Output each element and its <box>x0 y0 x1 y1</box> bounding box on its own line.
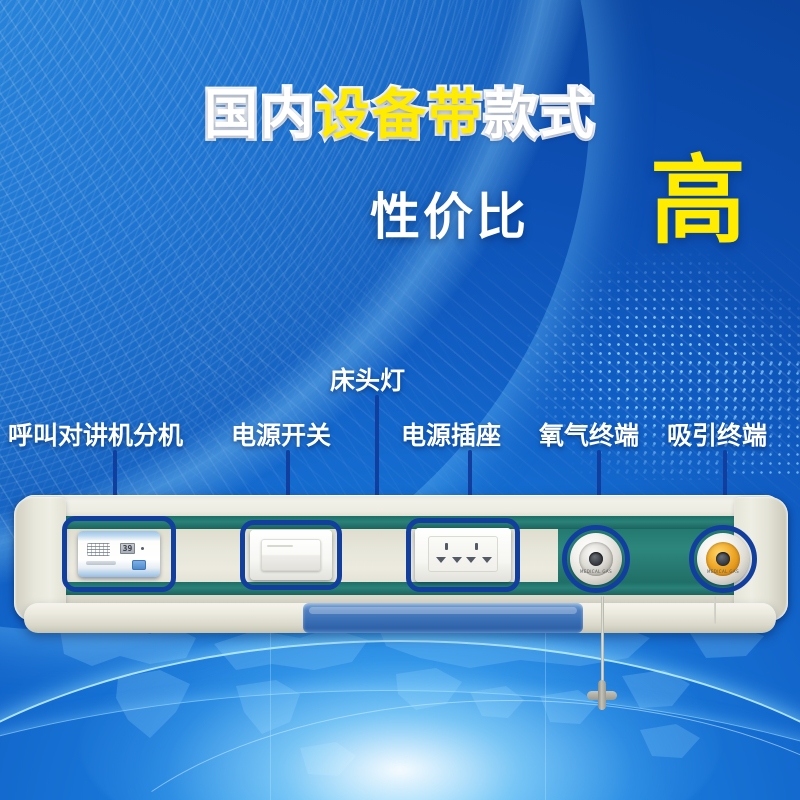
highlight-circle-oxygen <box>562 525 630 593</box>
bed-lamp-fixture <box>303 603 583 633</box>
callout-label-suction-terminal: 吸引终端 <box>667 416 767 452</box>
highlight-box-power-switch <box>240 520 342 590</box>
highlight-box-power-socket <box>406 518 520 592</box>
callout-label-intercom: 呼叫对讲机分机 <box>8 416 183 452</box>
headline-part-3: 款式 <box>484 83 596 146</box>
highlight-circle-suction <box>689 525 757 593</box>
headline-line-2: 性价比 高 <box>0 163 800 273</box>
callout-label-oxygen-terminal: 氧气终端 <box>539 416 639 452</box>
highlight-box-intercom <box>62 516 176 592</box>
headline-emphasis: 高 <box>650 153 746 249</box>
callout-label-bed-lamp: 床头灯 <box>330 361 405 397</box>
pull-cord-handle[interactable] <box>587 680 617 710</box>
callout-label-power-socket: 电源插座 <box>401 416 501 452</box>
headline-part-1: 国内 <box>204 83 316 146</box>
headline-subtext: 性价比 <box>370 177 529 249</box>
headline-line-1: 国内设备带款式 <box>0 70 800 149</box>
pull-cord-handle-vertical <box>598 680 606 710</box>
headline-block: 国内设备带款式 性价比 高 <box>0 70 800 273</box>
headline-part-2: 设备带 <box>316 83 484 146</box>
pull-cord[interactable] <box>601 596 604 688</box>
callout-label-power-switch: 电源开关 <box>231 416 331 452</box>
suction-terminal-cord <box>714 596 716 624</box>
